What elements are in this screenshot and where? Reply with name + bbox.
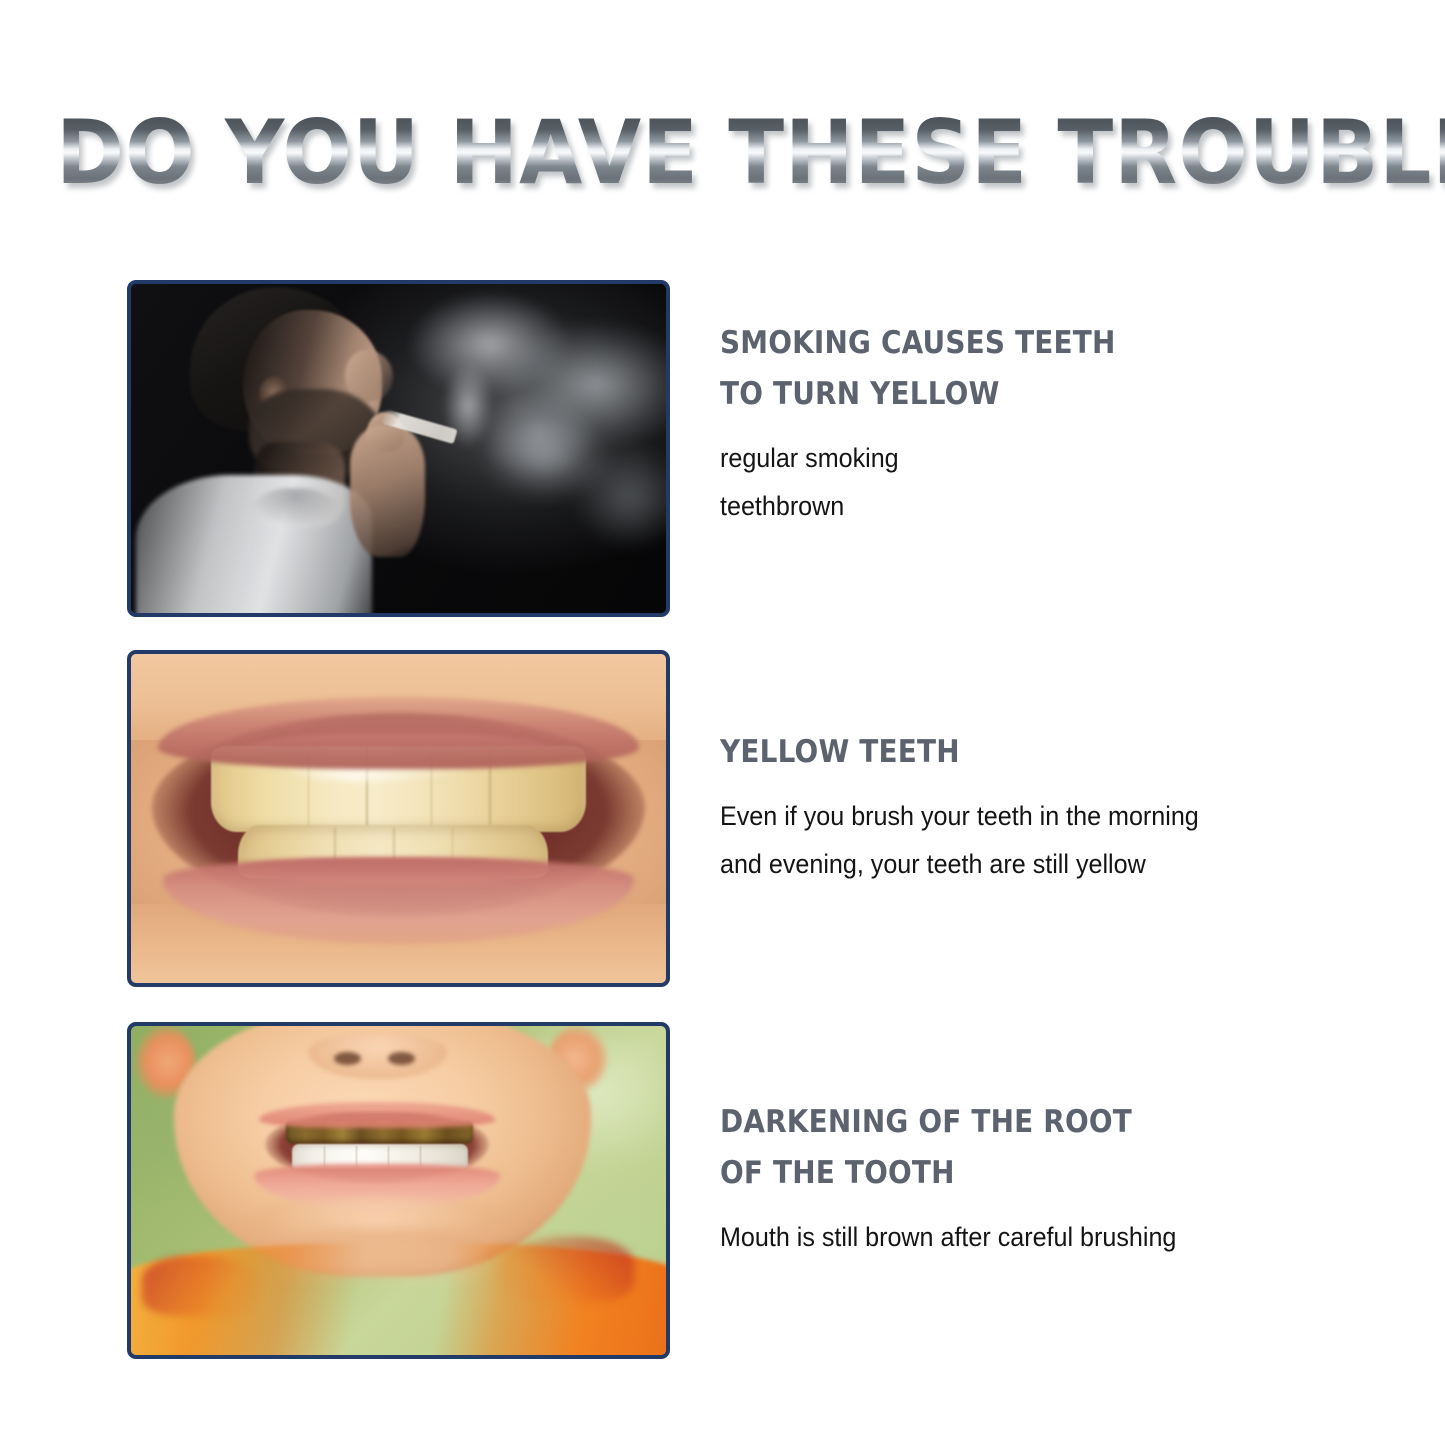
yellow-teeth-photo — [127, 650, 670, 987]
body-line-2: teethbrown — [720, 482, 1275, 530]
text-column-smoking: SMOKING CAUSES TEETH TO TURN YELLOW regu… — [670, 280, 1317, 530]
photo-canvas-smoking — [131, 284, 666, 613]
heading-block-root-darkening: DARKENING OF THE ROOT OF THE TOOTH — [720, 1097, 1317, 1199]
man-smoking-photo — [127, 280, 670, 617]
man-tshirt-shape — [136, 475, 371, 613]
heading-line-2: TO TURN YELLOW — [720, 369, 1257, 420]
shirt-collar-right — [495, 1237, 634, 1303]
heading-line-1: DARKENING OF THE ROOT — [720, 1097, 1257, 1148]
heading-line-2: OF THE TOOTH — [720, 1148, 1257, 1199]
page-title: DO YOU HAVE THESE TROUBLES — [56, 104, 1445, 202]
body-line-1: regular smoking — [720, 434, 1275, 482]
shirt-collar-left — [142, 1256, 260, 1315]
heading-block-yellow-teeth: YELLOW TEETH — [720, 727, 1317, 778]
heading-block-smoking: SMOKING CAUSES TEETH TO TURN YELLOW — [720, 318, 1317, 420]
text-column-yellow-teeth: YELLOW TEETH Even if you brush your teet… — [670, 650, 1317, 888]
text-column-root-darkening: DARKENING OF THE ROOT OF THE TOOTH Mouth… — [670, 1022, 1317, 1261]
trouble-section-root-darkening: DARKENING OF THE ROOT OF THE TOOTH Mouth… — [127, 1022, 1317, 1359]
page-title-container: DO YOU HAVE THESE TROUBLES — [0, 104, 1445, 202]
photo-canvas-child — [131, 1026, 666, 1355]
heading-line-1: YELLOW TEETH — [720, 727, 1257, 778]
smoke-plume-lower — [452, 383, 666, 567]
photo-canvas-yellow-teeth — [131, 654, 666, 983]
heading-line-1: SMOKING CAUSES TEETH — [720, 318, 1257, 369]
trouble-section-smoking: SMOKING CAUSES TEETH TO TURN YELLOW regu… — [127, 280, 1317, 617]
body-line-1: Mouth is still brown after careful brush… — [720, 1213, 1275, 1261]
child-decayed-teeth-photo — [127, 1022, 670, 1359]
trouble-section-yellow-teeth: YELLOW TEETH Even if you brush your teet… — [127, 650, 1317, 987]
body-line-1: Even if you brush your teeth in the morn… — [720, 792, 1275, 840]
child-nose-shape — [308, 1033, 447, 1079]
body-line-2: and evening, your teeth are still yellow — [720, 840, 1275, 888]
